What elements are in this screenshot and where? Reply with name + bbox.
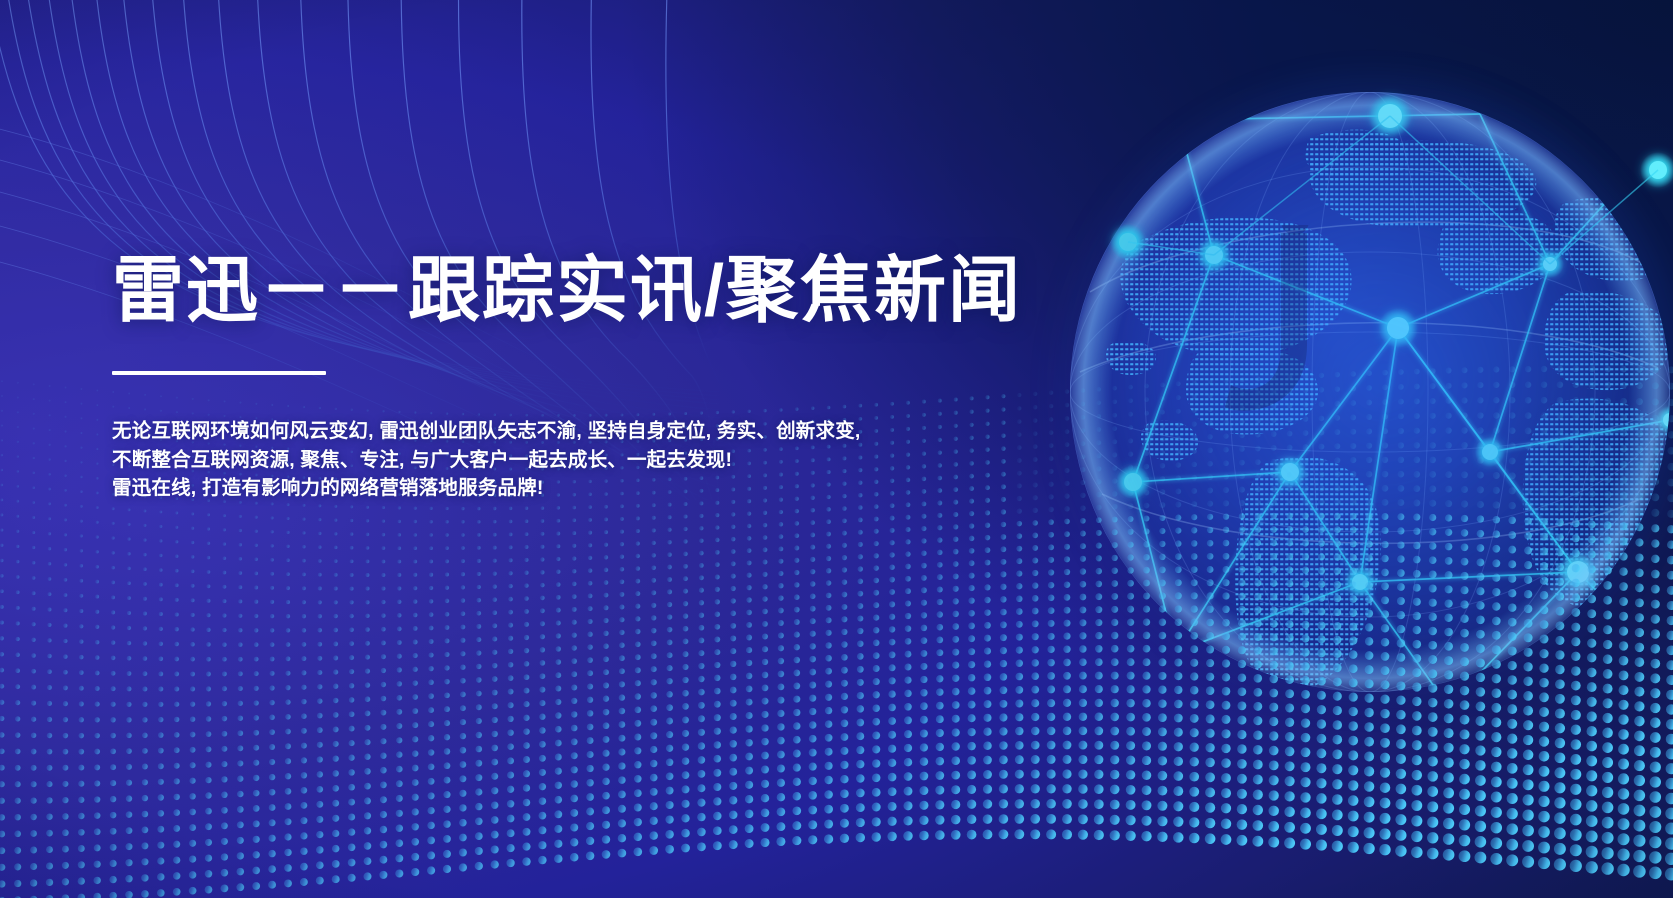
background-vignette <box>0 0 1673 898</box>
hero-banner: 雷迅－－跟踪实讯/聚焦新闻 无论互联网环境如何风云变幻, 雷迅创业团队矢志不渝,… <box>0 0 1673 898</box>
